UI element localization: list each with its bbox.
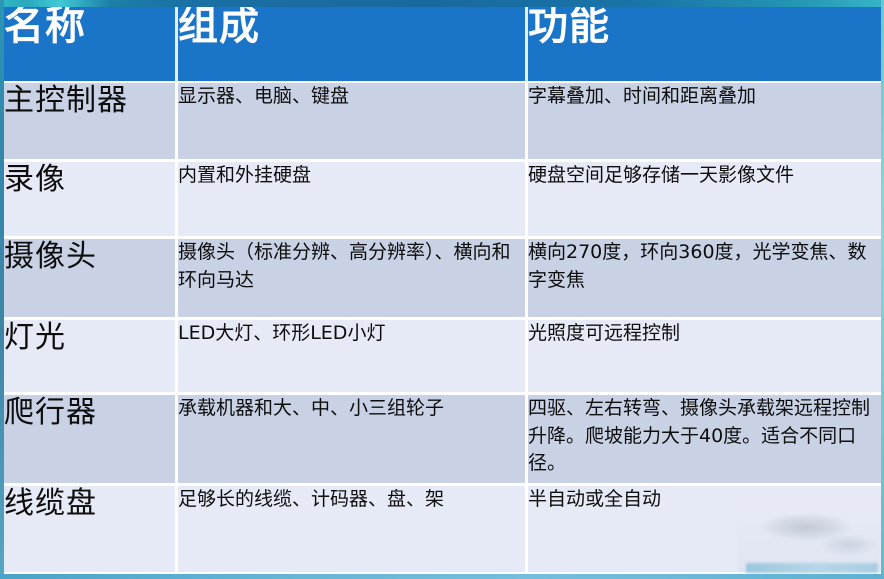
table-row: 线缆盘 足够长的线缆、计码器、盘、架 半自动或全自动 [4, 486, 881, 575]
cell-composition: 承载机器和大、中、小三组轮子 [178, 395, 528, 486]
cell-function: 字幕叠加、时间和距离叠加 [528, 83, 881, 162]
cell-function: 四驱、左右转弯、摄像头承载架远程控制升降。爬坡能力大于40度。适合不同口径。 [528, 395, 881, 486]
table-row: 灯光 LED大灯、环形LED小灯 光照度可远程控制 [4, 320, 881, 395]
cell-function: 光照度可远程控制 [528, 320, 881, 395]
table-body: 主控制器 显示器、电脑、键盘 字幕叠加、时间和距离叠加 录像 内置和外挂硬盘 硬… [4, 83, 881, 575]
cell-function: 横向270度，环向360度，光学变焦、数字变焦 [528, 239, 881, 320]
slide-canvas: 名称 组成 功能 主控制器 显示器、电脑、键盘 字幕叠加、时间和距离叠加 录像 … [0, 0, 884, 579]
cell-name: 摄像头 [4, 239, 178, 320]
cell-function: 硬盘空间足够存储一天影像文件 [528, 162, 881, 239]
slide-bottom-border-decoration [0, 574, 884, 579]
cell-composition: 显示器、电脑、键盘 [178, 83, 528, 162]
slide-left-border-decoration [0, 0, 4, 579]
cell-function: 半自动或全自动 [528, 486, 881, 575]
table-row: 爬行器 承载机器和大、中、小三组轮子 四驱、左右转弯、摄像头承载架远程控制升降。… [4, 395, 881, 486]
column-header-name: 名称 [4, 5, 178, 83]
table-header-row: 名称 组成 功能 [4, 5, 881, 83]
cell-composition: LED大灯、环形LED小灯 [178, 320, 528, 395]
cell-name: 录像 [4, 162, 178, 239]
table-header: 名称 组成 功能 [4, 5, 881, 83]
table-row: 摄像头 摄像头（标准分辨、高分辨率）、横向和环向马达 横向270度，环向360度… [4, 239, 881, 320]
cell-name: 爬行器 [4, 395, 178, 486]
specification-table: 名称 组成 功能 主控制器 显示器、电脑、键盘 字幕叠加、时间和距离叠加 录像 … [4, 5, 881, 575]
cell-composition: 摄像头（标准分辨、高分辨率）、横向和环向马达 [178, 239, 528, 320]
table-row: 录像 内置和外挂硬盘 硬盘空间足够存储一天影像文件 [4, 162, 881, 239]
column-header-composition: 组成 [178, 5, 528, 83]
cell-name: 主控制器 [4, 83, 178, 162]
table-row: 主控制器 显示器、电脑、键盘 字幕叠加、时间和距离叠加 [4, 83, 881, 162]
cell-name: 灯光 [4, 320, 178, 395]
column-header-function: 功能 [528, 5, 881, 83]
slide-top-edge-decoration [0, 0, 884, 7]
cell-name: 线缆盘 [4, 486, 178, 575]
cell-composition: 内置和外挂硬盘 [178, 162, 528, 239]
cell-composition: 足够长的线缆、计码器、盘、架 [178, 486, 528, 575]
